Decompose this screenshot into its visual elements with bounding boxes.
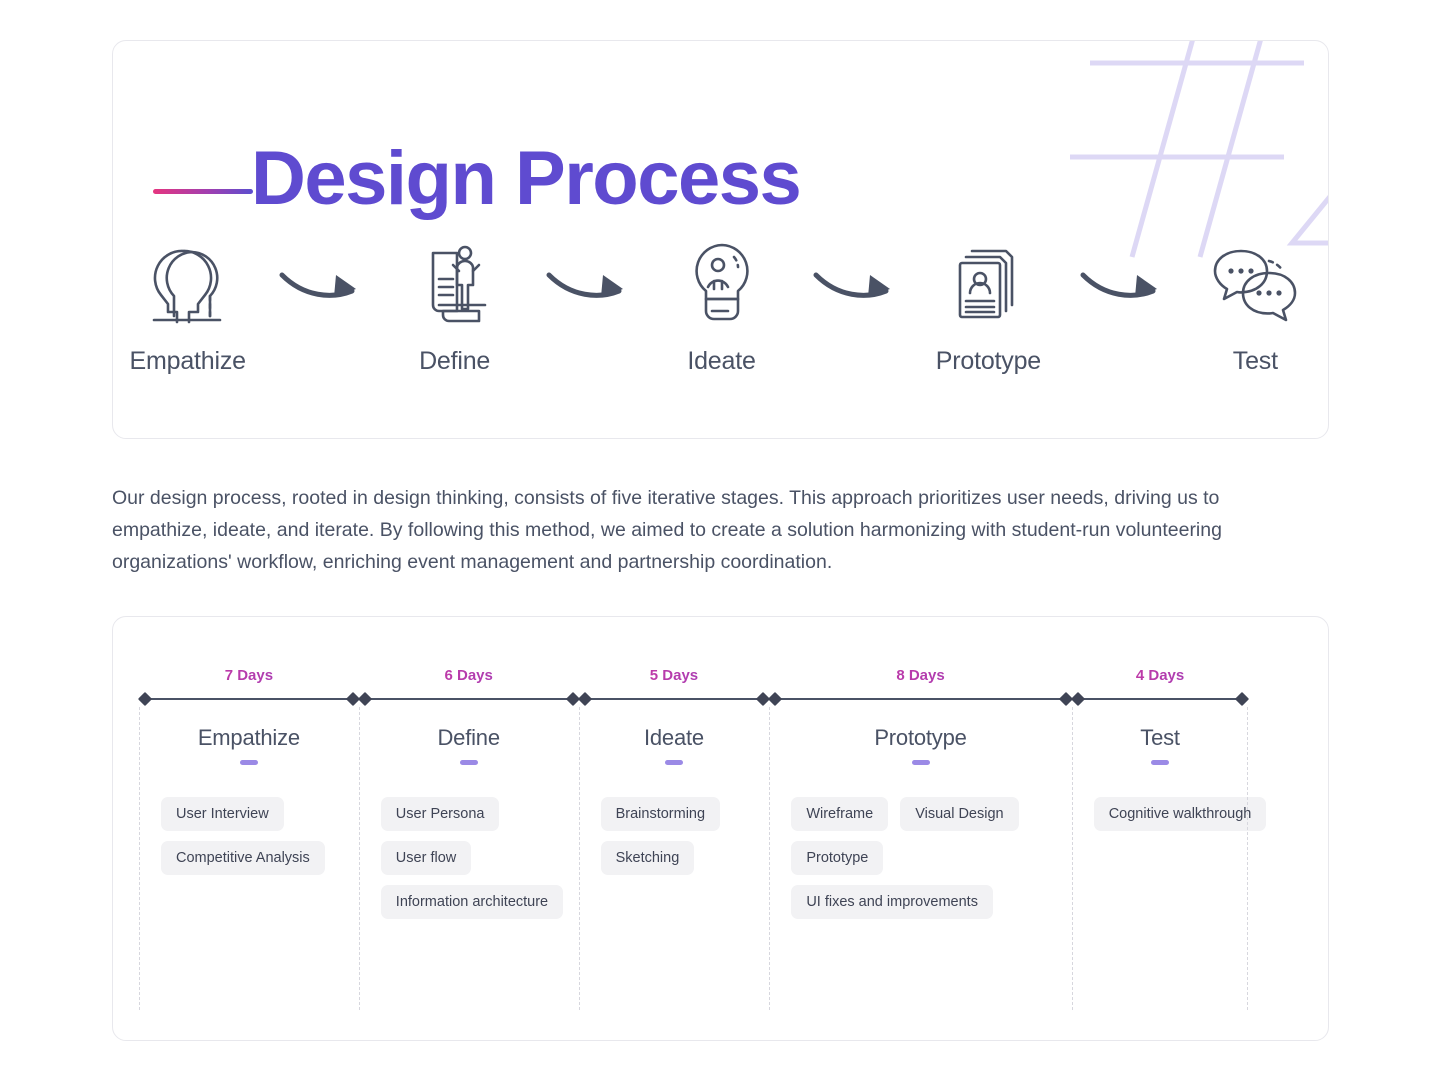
timeline-line xyxy=(775,698,1065,700)
task-chip[interactable]: Sketching xyxy=(601,841,695,875)
timeline-column-body: Define User Persona User flow Informatio… xyxy=(359,707,579,1018)
timeline-stage-underline xyxy=(240,760,258,765)
task-chip[interactable]: Visual Design xyxy=(900,797,1018,831)
process-stage-test: Test xyxy=(1181,239,1329,376)
page-title: Design Process xyxy=(251,141,800,217)
task-chip[interactable]: Competitive Analysis xyxy=(161,841,325,875)
process-stage-define: Define xyxy=(380,239,529,376)
process-stage-prototype: Prototype xyxy=(914,239,1063,376)
process-stage-empathize: Empathize xyxy=(113,239,262,376)
timeline-column-define: 6 Days Define User Persona User flow Inf… xyxy=(359,667,579,1018)
timeline-marker-start-icon xyxy=(138,692,152,706)
timeline-line xyxy=(145,698,353,700)
timeline-stage-underline xyxy=(460,760,478,765)
timeline-stage-underline xyxy=(665,760,683,765)
timeline-stage-name: Prototype xyxy=(769,725,1071,751)
task-chip[interactable]: UI fixes and improvements xyxy=(791,885,993,919)
person-podium-icon xyxy=(415,239,495,331)
timeline-column-body: Prototype Wireframe Visual Design Protot… xyxy=(769,707,1071,1018)
process-stage-label: Test xyxy=(1233,347,1278,376)
process-stage-label: Ideate xyxy=(687,347,755,376)
timeline-task-list: Wireframe Visual Design Prototype UI fix… xyxy=(769,797,1071,919)
timeline-segment-bar xyxy=(1072,691,1249,707)
timeline-column-prototype: 8 Days Prototype Wireframe Visual Design… xyxy=(769,667,1071,1018)
timeline-task-list: Cognitive walkthrough xyxy=(1072,797,1249,831)
timeline-marker-start-icon xyxy=(358,692,372,706)
timeline-column-body: Test Cognitive walkthrough xyxy=(1072,707,1249,1018)
task-chip[interactable]: Cognitive walkthrough xyxy=(1094,797,1267,831)
timeline-duration: 6 Days xyxy=(359,667,579,691)
timeline-task-list: Brainstorming Sketching xyxy=(579,797,770,875)
task-chip[interactable]: Prototype xyxy=(791,841,883,875)
intro-paragraph: Our design process, rooted in design thi… xyxy=(112,482,1292,578)
timeline-marker-start-icon xyxy=(578,692,592,706)
timeline-stage-name: Ideate xyxy=(579,725,770,751)
task-chip[interactable]: User flow xyxy=(381,841,471,875)
timeline-stage-name: Define xyxy=(359,725,579,751)
stacked-cards-icon xyxy=(950,239,1026,331)
timeline-task-list: User Persona User flow Information archi… xyxy=(359,797,579,919)
timeline-segment-bar xyxy=(359,691,579,707)
timeline-column-empathize: 7 Days Empathize User Interview Competit… xyxy=(139,667,359,1018)
task-chip[interactable]: User Persona xyxy=(381,797,500,831)
task-chip[interactable]: Brainstorming xyxy=(601,797,720,831)
process-stage-label: Empathize xyxy=(130,347,246,376)
timeline-marker-start-icon xyxy=(1071,692,1085,706)
process-stage-label: Prototype xyxy=(936,347,1041,376)
timeline-line xyxy=(1078,698,1243,700)
process-stage-ideate: Ideate xyxy=(647,239,796,376)
task-chip[interactable]: Information architecture xyxy=(381,885,563,919)
curved-arrow-right-icon xyxy=(529,239,647,331)
timeline-stage-underline xyxy=(1151,760,1169,765)
timeline-duration: 5 Days xyxy=(579,667,770,691)
timeline-segment-bar xyxy=(769,691,1071,707)
timeline-duration: 7 Days xyxy=(139,667,359,691)
lightbulb-person-icon xyxy=(688,239,756,331)
timeline-segment-bar xyxy=(139,691,359,707)
timeline-duration: 8 Days xyxy=(769,667,1071,691)
timeline-marker-end-icon xyxy=(1235,692,1249,706)
timeline-stage-underline xyxy=(912,760,930,765)
timeline-stage-name: Empathize xyxy=(139,725,359,751)
curved-arrow-right-icon xyxy=(262,239,380,331)
task-chip[interactable]: Wireframe xyxy=(791,797,888,831)
task-chip[interactable]: User Interview xyxy=(161,797,284,831)
timeline-columns: 7 Days Empathize User Interview Competit… xyxy=(139,667,1302,1018)
timeline-column-body: Ideate Brainstorming Sketching xyxy=(579,707,770,1018)
timeline-column-body: Empathize User Interview Competitive Ana… xyxy=(139,707,359,1018)
timeline-line xyxy=(365,698,573,700)
timeline-duration: 4 Days xyxy=(1072,667,1249,691)
timeline-line xyxy=(585,698,764,700)
design-process-hero-card: Design Process Empathize xyxy=(112,40,1329,439)
timeline-task-list: User Interview Competitive Analysis xyxy=(139,797,359,875)
curved-arrow-right-icon xyxy=(1063,239,1181,331)
process-stage-label: Define xyxy=(419,347,490,376)
design-timeline-card: 7 Days Empathize User Interview Competit… xyxy=(112,616,1329,1041)
timeline-segment-bar xyxy=(579,691,770,707)
timeline-marker-start-icon xyxy=(768,692,782,706)
speech-bubbles-icon xyxy=(1211,239,1299,331)
curved-arrow-right-icon xyxy=(796,239,914,331)
timeline-column-test: 4 Days Test Cognitive walkthrough xyxy=(1072,667,1249,1018)
design-process-page: Design Process Empathize xyxy=(0,0,1440,1080)
design-process-stage-strip: Empathize xyxy=(113,239,1329,399)
two-heads-icon xyxy=(142,239,234,331)
timeline-stage-name: Test xyxy=(1072,725,1249,751)
title-accent-line xyxy=(153,189,253,194)
timeline-column-ideate: 5 Days Ideate Brainstorming Sketching xyxy=(579,667,770,1018)
